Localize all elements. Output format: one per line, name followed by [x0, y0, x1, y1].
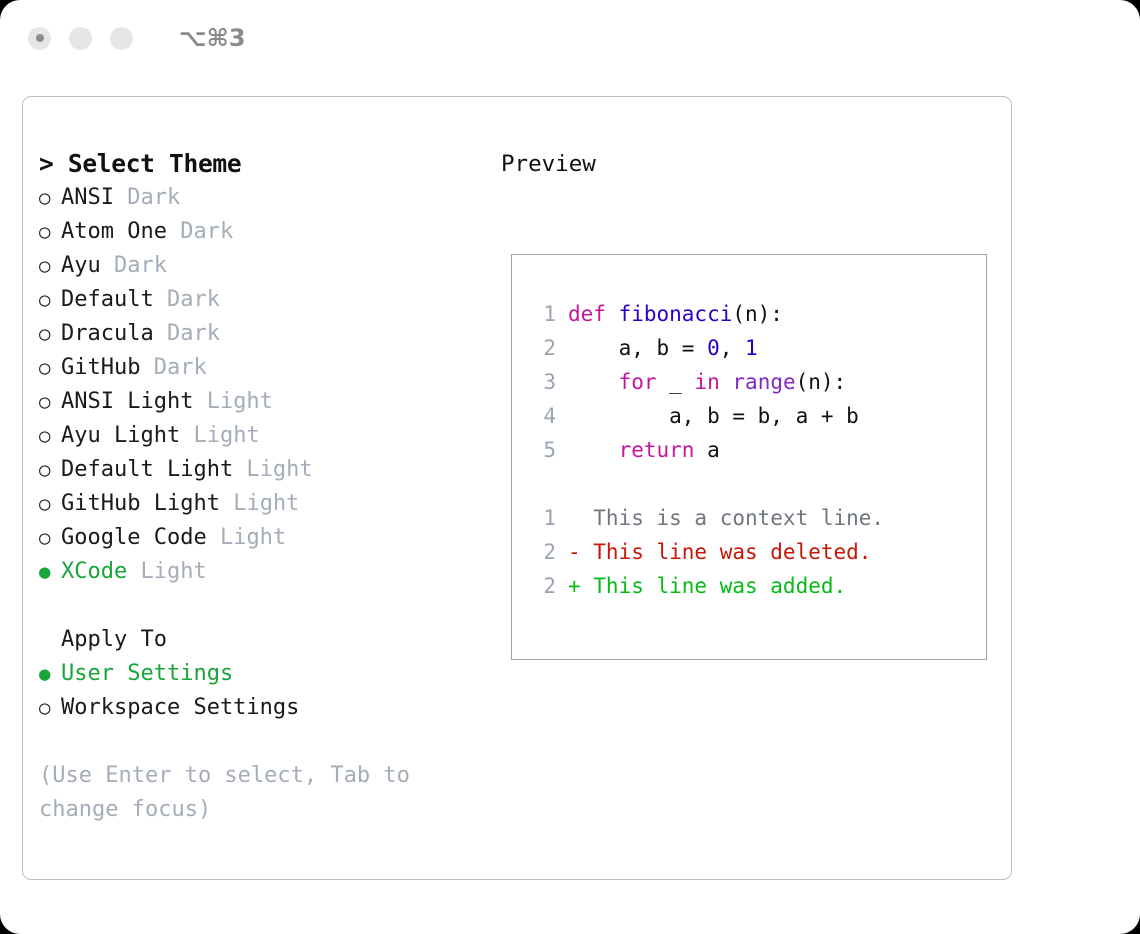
app-window: ⌥⌘3 > Select Theme ○ANSI Dark○Atom One D…: [0, 0, 1140, 934]
option-kind-label: Light: [180, 419, 259, 453]
code-line: 1def fibonacci(n):: [526, 297, 978, 331]
radio-unselected-icon: ○: [39, 215, 61, 249]
code-line-text: for _ in range(n):: [568, 365, 846, 399]
radio-selected-icon: ●: [39, 555, 61, 589]
diff-line-text-add: + This line was added.: [568, 569, 846, 603]
diff-line-text-del: - This line was deleted.: [568, 535, 871, 569]
window-dot-3-icon[interactable]: [110, 27, 133, 50]
theme-list[interactable]: ○ANSI Dark○Atom One Dark○Ayu Dark○Defaul…: [39, 181, 479, 589]
option-kind-label: Dark: [101, 249, 167, 283]
code-token-var: _: [657, 370, 695, 394]
option-label: Ayu: [61, 249, 101, 283]
apply-option-user-settings[interactable]: ●User Settings: [39, 657, 479, 691]
radio-unselected-icon: ○: [39, 419, 61, 453]
code-preview-area: 1def fibonacci(n):2 a, b = 0, 13 for _ i…: [526, 297, 978, 603]
line-number: 5: [526, 433, 556, 467]
option-kind-label: Dark: [167, 215, 233, 249]
theme-option-github[interactable]: ○GitHub Dark: [39, 351, 479, 385]
theme-selector-column: > Select Theme ○ANSI Dark○Atom One Dark○…: [39, 147, 479, 827]
window-dot-inner: [36, 34, 44, 42]
theme-option-dracula[interactable]: ○Dracula Dark: [39, 317, 479, 351]
option-label: GitHub: [61, 351, 140, 385]
apply-to-label: Apply To: [39, 623, 479, 657]
apply-option-workspace-settings[interactable]: ○Workspace Settings: [39, 691, 479, 725]
radio-unselected-icon: ○: [39, 351, 61, 385]
code-token-fn: fibonacci: [619, 302, 733, 326]
theme-option-ansi-light[interactable]: ○ANSI Light Light: [39, 385, 479, 419]
keyboard-shortcut-label: ⌥⌘3: [179, 24, 246, 52]
code-token-pun: [568, 370, 619, 394]
option-kind-label: Dark: [154, 317, 220, 351]
radio-unselected-icon: ○: [39, 317, 61, 351]
theme-option-github-light[interactable]: ○GitHub Light Light: [39, 487, 479, 521]
code-line-text: return a: [568, 433, 720, 467]
code-diff-separator: [526, 467, 978, 501]
option-kind-label: Dark: [154, 283, 220, 317]
title-bar: ⌥⌘3: [0, 0, 1140, 76]
preview-box: 1def fibonacci(n):2 a, b = 0, 13 for _ i…: [511, 254, 987, 660]
theme-option-default-light[interactable]: ○Default Light Light: [39, 453, 479, 487]
option-kind-label: Light: [127, 555, 206, 589]
code-token-kw: in: [694, 370, 719, 394]
window-controls: [28, 27, 133, 50]
diff-line-number: 1: [526, 501, 556, 535]
code-token-var: a, b = b, a + b: [568, 404, 859, 428]
code-token-pun: (n):: [732, 302, 783, 326]
radio-unselected-icon: ○: [39, 691, 61, 725]
option-label: Workspace Settings: [61, 691, 299, 725]
radio-unselected-icon: ○: [39, 487, 61, 521]
option-label: ANSI Light: [61, 385, 193, 419]
code-token-kw: def: [568, 302, 619, 326]
line-number: 3: [526, 365, 556, 399]
code-token-pun: [720, 370, 733, 394]
code-line-text: a, b = 0, 1: [568, 331, 758, 365]
code-line-text: a, b = b, a + b: [568, 399, 859, 433]
code-token-var: a, b =: [568, 336, 707, 360]
option-kind-label: Light: [193, 385, 272, 419]
main-panel: > Select Theme ○ANSI Dark○Atom One Dark○…: [22, 96, 1012, 880]
option-label: Dracula: [61, 317, 154, 351]
line-number: 4: [526, 399, 556, 433]
code-token-pun: ,: [720, 336, 745, 360]
theme-option-default[interactable]: ○Default Dark: [39, 283, 479, 317]
window-dot-2-icon[interactable]: [69, 27, 92, 50]
code-token-num: 0: [707, 336, 720, 360]
theme-option-ayu[interactable]: ○Ayu Dark: [39, 249, 479, 283]
code-token-bfn: range: [732, 370, 795, 394]
option-kind-label: Light: [207, 521, 286, 555]
diff-line: 2- This line was deleted.: [526, 535, 978, 569]
code-line: 4 a, b = b, a + b: [526, 399, 978, 433]
theme-option-xcode[interactable]: ●XCode Light: [39, 555, 479, 589]
code-line: 5 return a: [526, 433, 978, 467]
code-token-kw: for: [619, 370, 657, 394]
keyboard-hint-text: (Use Enter to select, Tab to change focu…: [39, 759, 449, 827]
code-token-pun: (n):: [796, 370, 847, 394]
radio-unselected-icon: ○: [39, 521, 61, 555]
theme-option-ayu-light[interactable]: ○Ayu Light Light: [39, 419, 479, 453]
option-kind-label: Dark: [114, 181, 180, 215]
option-label: XCode: [61, 555, 127, 589]
list-spacer: [39, 589, 479, 623]
option-label: GitHub Light: [61, 487, 220, 521]
code-line: 2 a, b = 0, 1: [526, 331, 978, 365]
option-kind-label: Dark: [140, 351, 206, 385]
line-number: 1: [526, 297, 556, 331]
select-theme-header: > Select Theme: [39, 147, 479, 181]
radio-unselected-icon: ○: [39, 385, 61, 419]
window-dot-active-icon[interactable]: [28, 27, 51, 50]
option-label: Ayu Light: [61, 419, 180, 453]
preview-title: Preview: [501, 147, 1001, 181]
apply-to-list[interactable]: ●User Settings○Workspace Settings: [39, 657, 479, 725]
code-line: 3 for _ in range(n):: [526, 365, 978, 399]
radio-unselected-icon: ○: [39, 283, 61, 317]
code-token-var: a: [694, 438, 719, 462]
diff-line: 1 This is a context line.: [526, 501, 978, 535]
diff-line-number: 2: [526, 535, 556, 569]
option-label: Google Code: [61, 521, 207, 555]
option-kind-label: Light: [233, 453, 312, 487]
radio-unselected-icon: ○: [39, 181, 61, 215]
radio-unselected-icon: ○: [39, 453, 61, 487]
option-label: Atom One: [61, 215, 167, 249]
option-label: Default Light: [61, 453, 233, 487]
option-label: ANSI: [61, 181, 114, 215]
radio-unselected-icon: ○: [39, 249, 61, 283]
option-label: User Settings: [61, 657, 233, 691]
option-kind-label: Light: [220, 487, 299, 521]
option-label: Default: [61, 283, 154, 317]
code-token-num: 1: [745, 336, 758, 360]
diff-line-text-ctx: This is a context line.: [568, 501, 884, 535]
code-token-pun: [568, 438, 619, 462]
preview-column: Preview 1def fibonacci(n):2 a, b = 0, 13…: [501, 147, 1001, 181]
radio-selected-icon: ●: [39, 657, 61, 691]
line-number: 2: [526, 331, 556, 365]
code-token-kw: return: [619, 438, 695, 462]
theme-option-ansi[interactable]: ○ANSI Dark: [39, 181, 479, 215]
theme-option-google-code[interactable]: ○Google Code Light: [39, 521, 479, 555]
theme-option-atom-one[interactable]: ○Atom One Dark: [39, 215, 479, 249]
diff-line-number: 2: [526, 569, 556, 603]
diff-line: 2+ This line was added.: [526, 569, 978, 603]
code-line-text: def fibonacci(n):: [568, 297, 783, 331]
